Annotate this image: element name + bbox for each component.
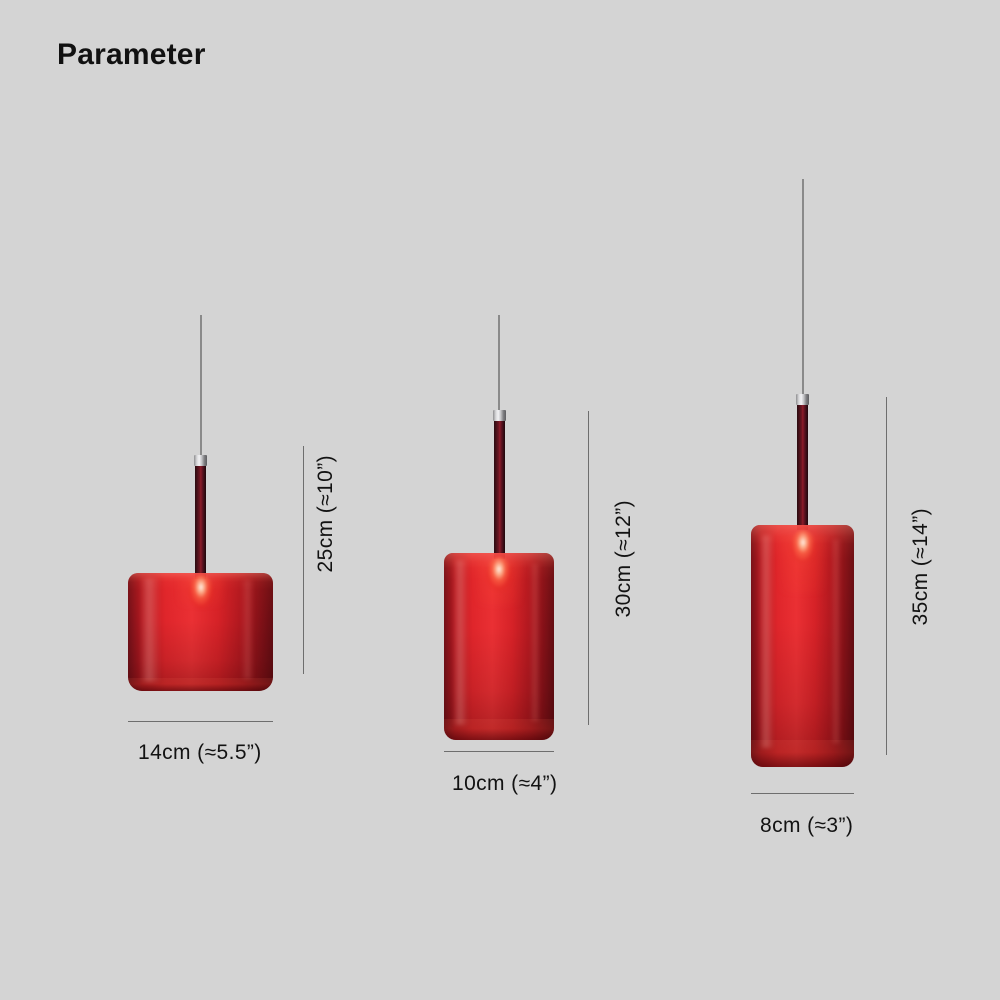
lamp-glass-shade: [751, 525, 854, 767]
page-title: Parameter: [57, 38, 206, 72]
height-dimension-label-pendant-large: 35cm (≈14”): [909, 508, 933, 625]
shade-highlight-right: [241, 580, 254, 679]
product-figure-pendant-large: [751, 175, 854, 775]
shade-bottom-rim: [444, 719, 554, 740]
lamp-glass-shade: [128, 573, 273, 691]
shade-highlight-left: [140, 578, 160, 682]
height-dimension-line-pendant-small: [303, 446, 304, 674]
width-dimension-line-pendant-small: [128, 721, 273, 722]
shade-top-rim: [751, 525, 854, 544]
lamp-stem: [195, 466, 206, 579]
height-dimension-label-pendant-small: 25cm (≈10”): [314, 455, 338, 572]
chrome-cap-icon: [796, 394, 809, 405]
shade-top-rim: [444, 553, 554, 568]
chrome-cap-icon: [493, 410, 506, 421]
lamp-cable: [200, 315, 202, 455]
width-dimension-label-pendant-medium: 10cm (≈4”): [452, 772, 557, 796]
lamp-glass-shade: [444, 553, 554, 740]
product-figure-pendant-small: [128, 310, 273, 690]
shade-bottom-rim: [128, 678, 273, 691]
width-dimension-line-pendant-medium: [444, 751, 554, 752]
lamp-cable: [802, 179, 804, 394]
shade-highlight-right: [831, 540, 840, 743]
product-figure-pendant-medium: [444, 310, 554, 730]
lamp-stem: [797, 405, 808, 530]
shade-highlight-left: [759, 535, 773, 748]
width-dimension-line-pendant-large: [751, 793, 854, 794]
lamp-cable: [498, 315, 500, 410]
shade-highlight-left: [453, 560, 468, 725]
width-dimension-label-pendant-small: 14cm (≈5.5”): [138, 741, 262, 765]
width-dimension-label-pendant-large: 8cm (≈3”): [760, 814, 853, 838]
shade-highlight-right: [530, 564, 540, 721]
lamp-stem: [494, 421, 505, 559]
shade-top-rim: [128, 573, 273, 582]
height-dimension-line-pendant-medium: [588, 411, 589, 725]
shade-bottom-rim: [751, 740, 854, 767]
height-dimension-line-pendant-large: [886, 397, 887, 755]
chrome-cap-icon: [194, 455, 207, 466]
height-dimension-label-pendant-medium: 30cm (≈12”): [612, 500, 636, 617]
